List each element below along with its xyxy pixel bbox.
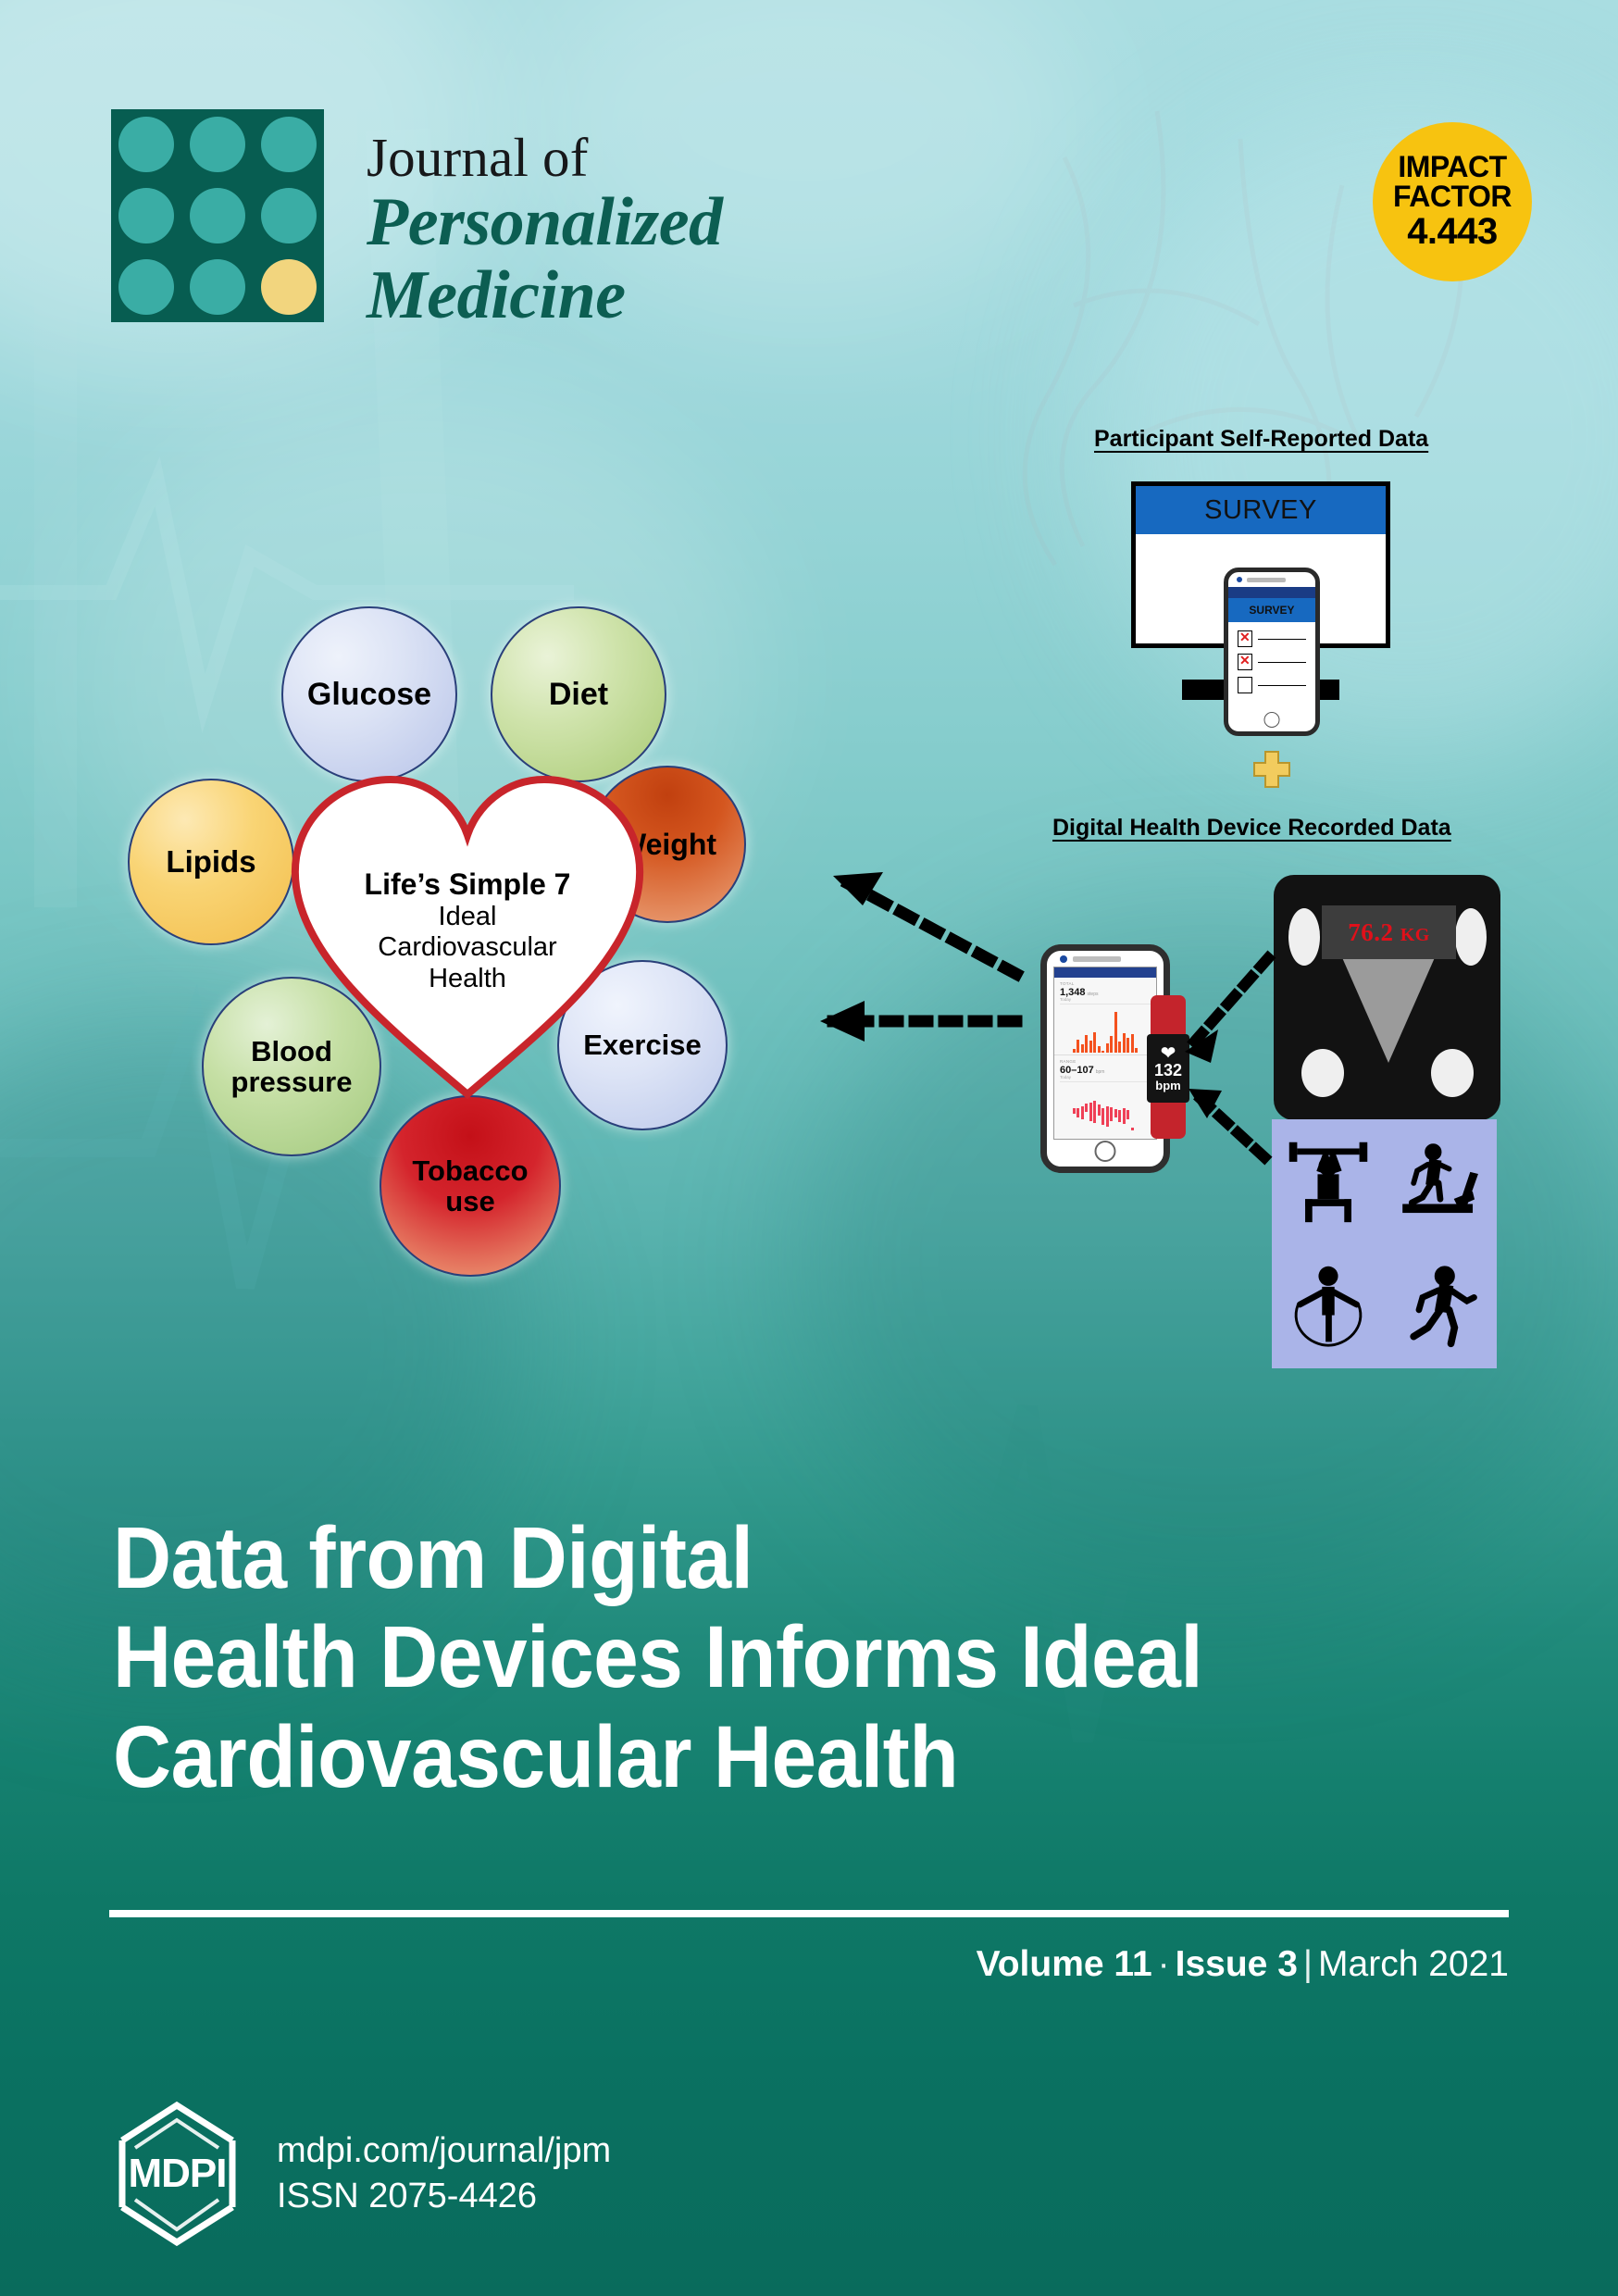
scale-pad — [1288, 908, 1320, 966]
cover-title: Data from Digital Health Devices Informs… — [113, 1509, 1407, 1807]
footer: MDPI mdpi.com/journal/jpm ISSN 2075-4426 — [115, 2100, 611, 2248]
issue-volume: Volume 11 — [977, 1944, 1152, 1984]
scale-weight-unit: KG — [1400, 925, 1430, 945]
bubble-tobacco-use-label: Tobaccouse — [406, 1155, 533, 1217]
checkbox-empty-icon — [1238, 677, 1252, 693]
survey-row — [1238, 630, 1306, 647]
footer-issn: ISSN 2075-4426 — [277, 2174, 611, 2219]
journal-cover: Journal of Personalized Medicine IMPACT … — [0, 0, 1618, 2296]
weightlifting-icon — [1284, 1137, 1373, 1226]
logo-dot-icon — [261, 117, 317, 172]
monitor-survey-title: SURVEY — [1136, 486, 1386, 534]
speaker-icon — [1247, 578, 1286, 582]
hr-bars — [1073, 1086, 1134, 1130]
phone-screen: TOTAL 1,348steps Today RANGE 60–107bpm T… — [1053, 967, 1157, 1140]
scale-pad — [1301, 1049, 1344, 1097]
answer-line — [1258, 639, 1306, 640]
exercise-cell — [1272, 1119, 1385, 1244]
heart-icon: ❤ — [1161, 1045, 1176, 1062]
arrow-scale-to-phone — [1185, 958, 1268, 1063]
mdpi-wordmark: MDPI — [115, 2100, 240, 2248]
bubble-tobacco-use: Tobaccouse — [380, 1095, 561, 1277]
survey-phone-icon: SURVEY — [1224, 568, 1320, 736]
band-bpm-value: 132 — [1154, 1062, 1182, 1079]
heart-shape: Life’s Simple 7 Ideal Cardiovascular Hea… — [287, 768, 648, 1102]
cover-title-line2: Health Devices Informs Ideal — [113, 1608, 1407, 1707]
survey-row — [1238, 677, 1306, 693]
heart-line2: Cardiovascular — [287, 932, 648, 964]
logo-dot-icon — [261, 188, 317, 243]
arrow-to-weight — [833, 872, 1016, 974]
digital-health-device-recorded-data-label: Digital Health Device Recorded Data — [1052, 815, 1451, 842]
treadmill-icon — [1396, 1137, 1485, 1226]
exercise-cell — [1385, 1244, 1498, 1369]
logo-dot-icon — [118, 117, 174, 172]
medical-plus-icon — [1252, 750, 1291, 789]
home-button-icon — [1264, 712, 1280, 728]
footer-text: mdpi.com/journal/jpm ISSN 2075-4426 — [277, 2128, 611, 2220]
app-navbar — [1054, 967, 1156, 978]
camera-icon — [1237, 577, 1242, 582]
fitness-band-icon: ❤ 132 bpm — [1151, 995, 1186, 1139]
scale-weight-value: 76.2 — [1348, 918, 1393, 946]
bubble-glucose-label: Glucose — [302, 678, 437, 712]
hr-unit: bpm — [1096, 1069, 1105, 1075]
logo-dot-accent-icon — [261, 259, 317, 315]
participant-self-reported-data-label: Participant Self-Reported Data — [1094, 426, 1428, 453]
logo-dot-icon — [190, 188, 245, 243]
logo-cell — [182, 109, 254, 181]
heart-title: Life’s Simple 7 — [287, 868, 648, 902]
smart-scale-icon: 76.2 KG — [1274, 875, 1500, 1120]
band-bpm-unit: bpm — [1155, 1079, 1180, 1092]
arrow-exercise-to-phone — [1189, 1089, 1264, 1157]
home-button-icon — [1095, 1141, 1116, 1162]
journal-title: Journal of Personalized Medicine — [367, 130, 723, 331]
steps-chart — [1060, 1004, 1151, 1054]
heart-line3: Health — [287, 964, 648, 995]
steps-value: 1,348 — [1060, 987, 1086, 998]
logo-cell — [182, 251, 254, 322]
logo-dot-icon — [118, 188, 174, 243]
scale-pad — [1431, 1049, 1474, 1097]
exercise-cell — [1272, 1244, 1385, 1369]
journal-title-line2a: Personalized — [367, 187, 723, 258]
arrow-to-exercise — [820, 1001, 1016, 1042]
cover-title-line3: Cardiovascular Health — [113, 1708, 1407, 1807]
exercise-cell — [1385, 1119, 1498, 1244]
logo-cell — [111, 251, 182, 322]
issue-dot: · — [1158, 1944, 1170, 1984]
running-icon — [1396, 1262, 1485, 1351]
issue-line: Volume 11·Issue 3|March 2021 — [977, 1944, 1509, 1985]
logo-cell — [253, 181, 324, 252]
impact-factor-label-2: FACTOR — [1393, 181, 1512, 212]
survey-phone-title: SURVEY — [1228, 598, 1315, 622]
lifes-simple-7-diagram: Glucose Diet Weight Exercise Tobaccouse … — [128, 606, 831, 1291]
scale-display: 76.2 KG — [1322, 905, 1456, 959]
issue-pipe: | — [1303, 1944, 1313, 1984]
footer-url: mdpi.com/journal/jpm — [277, 2128, 611, 2174]
heart-text: Life’s Simple 7 Ideal Cardiovascular Hea… — [287, 868, 648, 995]
logo-dot-icon — [190, 117, 245, 172]
logo-dot-icon — [190, 259, 245, 315]
camera-icon — [1060, 955, 1067, 963]
heart-rate-card: RANGE 60–107bpm Today — [1054, 1055, 1156, 1132]
bubble-diet-label: Diet — [543, 678, 614, 712]
hr-chart — [1060, 1081, 1151, 1132]
bubble-lipids: Lipids — [128, 779, 294, 945]
checkbox-checked-icon — [1238, 630, 1252, 647]
issue-date: March 2021 — [1318, 1944, 1509, 1984]
logo-cell — [111, 181, 182, 252]
hr-sub: Today — [1060, 1076, 1151, 1080]
cover-title-line1: Data from Digital — [113, 1509, 1407, 1608]
impact-factor-label-1: IMPACT — [1398, 152, 1506, 182]
logo-cell — [111, 109, 182, 181]
mdpi-logo: MDPI — [115, 2100, 240, 2248]
title-divider — [109, 1910, 1509, 1917]
answer-line — [1258, 662, 1306, 663]
journal-title-line1: Journal of — [367, 130, 723, 185]
logo-cell — [182, 181, 254, 252]
checkbox-checked-icon — [1238, 654, 1252, 670]
hr-value: 60–107 — [1060, 1065, 1094, 1076]
impact-factor-value: 4.443 — [1407, 212, 1498, 252]
heart-line1: Ideal — [287, 902, 648, 933]
survey-phone-navbar — [1228, 587, 1315, 598]
survey-row — [1238, 654, 1306, 670]
bubble-lipids-label: Lipids — [160, 845, 261, 879]
issue-number: Issue 3 — [1176, 1944, 1298, 1984]
journal-title-line2b: Medicine — [367, 260, 723, 331]
phone-top — [1047, 951, 1164, 967]
impact-factor-badge: IMPACT FACTOR 4.443 — [1373, 122, 1532, 281]
mdpi-dot-grid-icon — [111, 109, 324, 322]
survey-phone-top — [1228, 572, 1315, 587]
steps-unit: steps — [1088, 992, 1099, 997]
logo-cell — [253, 109, 324, 181]
logo-cell — [253, 251, 324, 322]
jump-rope-icon — [1284, 1262, 1373, 1351]
bubble-diet: Diet — [491, 606, 666, 782]
band-display: ❤ 132 bpm — [1147, 1034, 1189, 1103]
survey-phone-checklist — [1228, 622, 1315, 693]
steps-sub: Today — [1060, 998, 1151, 1003]
journal-logo-block: Journal of Personalized Medicine — [111, 109, 723, 331]
scale-pad — [1455, 908, 1487, 966]
steps-card: TOTAL 1,348steps Today — [1054, 978, 1156, 1055]
scale-body-graphic — [1338, 947, 1439, 1063]
steps-bars — [1073, 1008, 1139, 1053]
bubble-glucose: Glucose — [281, 606, 457, 782]
answer-line — [1258, 685, 1306, 686]
logo-dot-icon — [118, 259, 174, 315]
exercise-icons-panel — [1272, 1119, 1497, 1368]
speaker-icon — [1073, 956, 1121, 962]
